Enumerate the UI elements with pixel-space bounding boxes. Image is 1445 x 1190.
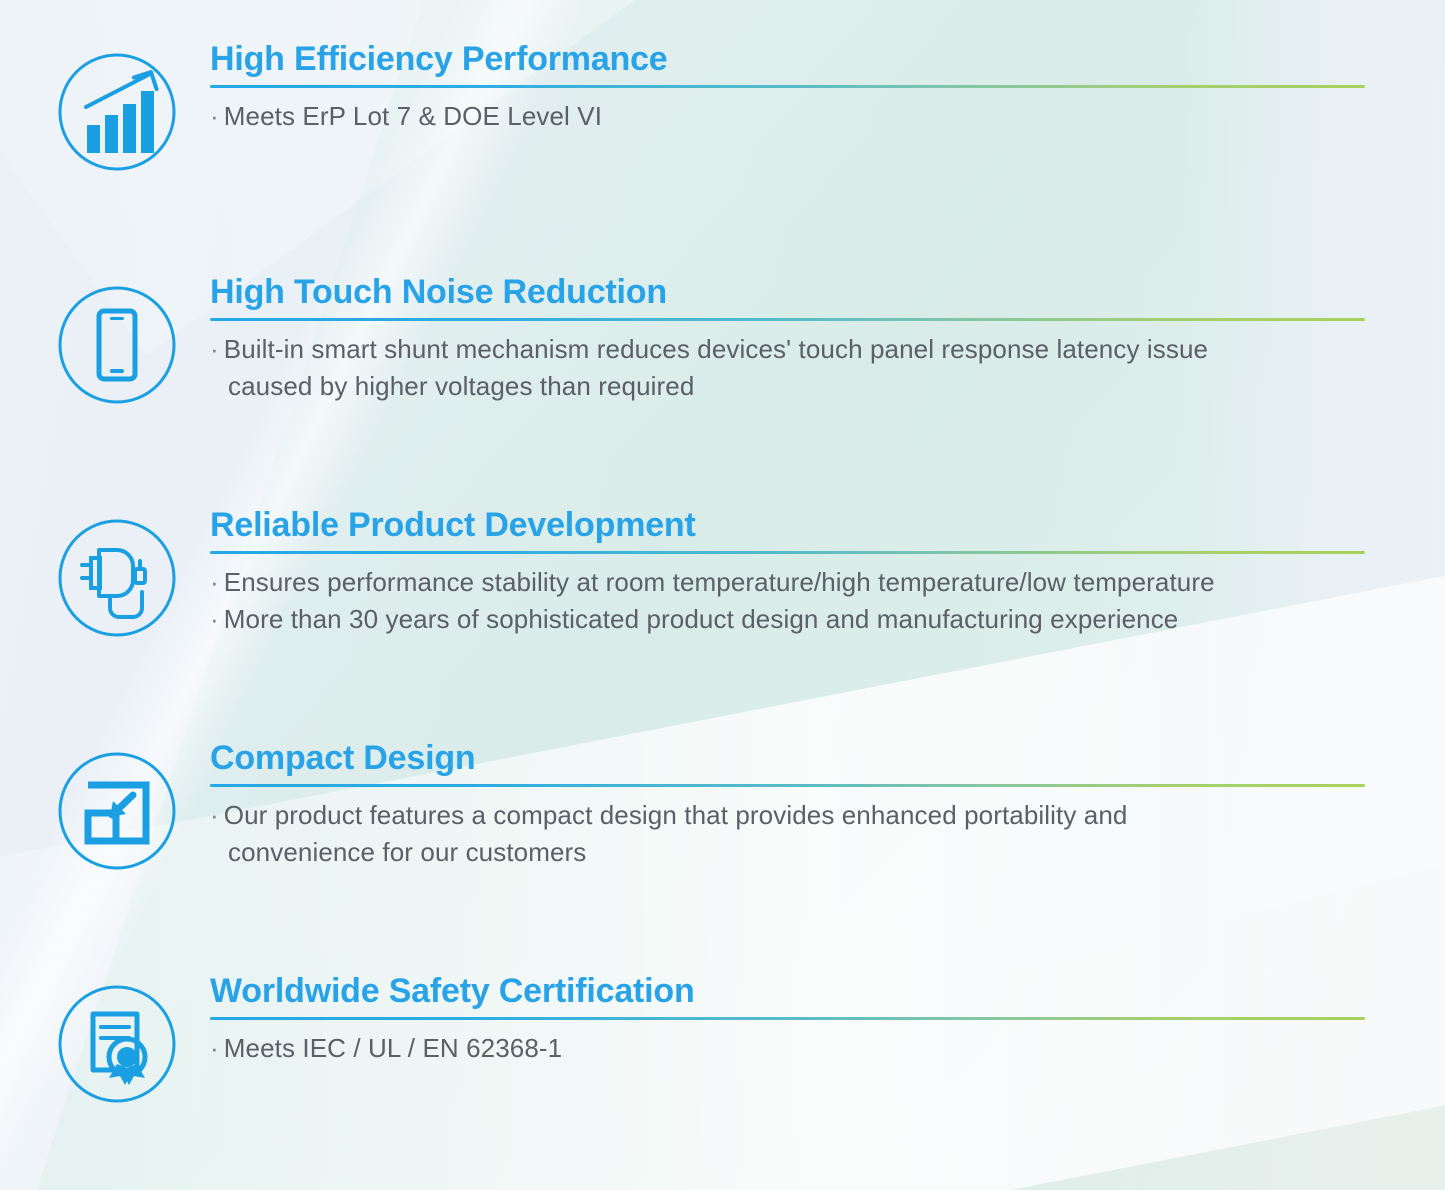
feature-divider — [210, 318, 1365, 321]
feature-body: Compact Design ·Our product features a c… — [210, 739, 1370, 871]
feature-divider — [210, 784, 1365, 787]
bullet-marker: · — [210, 334, 219, 364]
bullet-marker: · — [210, 101, 219, 131]
bullet-text: Meets ErP Lot 7 & DOE Level VI — [224, 101, 602, 131]
compact-resize-icon — [55, 749, 179, 873]
bullet-text: Built-in smart shunt mechanism reduces d… — [224, 334, 1208, 364]
feature-title: High Efficiency Performance — [210, 40, 1370, 78]
feature-body: High Touch Noise Reduction ·Built-in sma… — [210, 273, 1370, 405]
feature-title: Compact Design — [210, 739, 1370, 777]
bullet-text: Meets IEC / UL / EN 62368-1 — [224, 1033, 562, 1063]
bullet-text: Our product features a compact design th… — [224, 800, 1128, 830]
bullet-marker: · — [210, 1033, 219, 1063]
feature-bullets: ·Our product features a compact design t… — [210, 797, 1370, 871]
bullet-item: ·More than 30 years of sophisticated pro… — [210, 601, 1370, 638]
bullet-item: ·Meets ErP Lot 7 & DOE Level VI — [210, 98, 1370, 135]
feature-divider — [210, 551, 1365, 554]
bullet-text: Ensures performance stability at room te… — [224, 567, 1215, 597]
bullet-marker: · — [210, 604, 219, 634]
feature-highlights-panel: High Efficiency Performance ·Meets ErP L… — [0, 0, 1445, 1190]
bullet-item: ·Built-in smart shunt mechanism reduces … — [210, 331, 1370, 405]
certificate-icon — [55, 982, 179, 1106]
feature-body: High Efficiency Performance ·Meets ErP L… — [210, 40, 1370, 135]
feature-body: Worldwide Safety Certification ·Meets IE… — [210, 972, 1370, 1067]
bullet-marker: · — [210, 567, 219, 597]
bullet-text: More than 30 years of sophisticated prod… — [224, 604, 1179, 634]
feature-body: Reliable Product Development ·Ensures pe… — [210, 506, 1370, 638]
feature-bullets: ·Ensures performance stability at room t… — [210, 564, 1370, 638]
bullet-text-continued: caused by higher voltages than required — [210, 368, 1370, 405]
feature-bullets: ·Meets ErP Lot 7 & DOE Level VI — [210, 98, 1370, 135]
feature-title: High Touch Noise Reduction — [210, 273, 1370, 311]
feature-bullets: ·Built-in smart shunt mechanism reduces … — [210, 331, 1370, 405]
smartphone-icon — [55, 283, 179, 407]
bullet-item: ·Ensures performance stability at room t… — [210, 564, 1370, 601]
bullet-marker: · — [210, 800, 219, 830]
bullet-text-continued: convenience for our customers — [210, 834, 1370, 871]
growth-chart-icon — [55, 50, 179, 174]
feature-title: Worldwide Safety Certification — [210, 972, 1370, 1010]
bullet-item: ·Meets IEC / UL / EN 62368-1 — [210, 1030, 1370, 1067]
feature-divider — [210, 1017, 1365, 1020]
bullet-item: ·Our product features a compact design t… — [210, 797, 1370, 871]
power-adapter-icon — [55, 516, 179, 640]
feature-title: Reliable Product Development — [210, 506, 1370, 544]
feature-divider — [210, 85, 1365, 88]
feature-bullets: ·Meets IEC / UL / EN 62368-1 — [210, 1030, 1370, 1067]
